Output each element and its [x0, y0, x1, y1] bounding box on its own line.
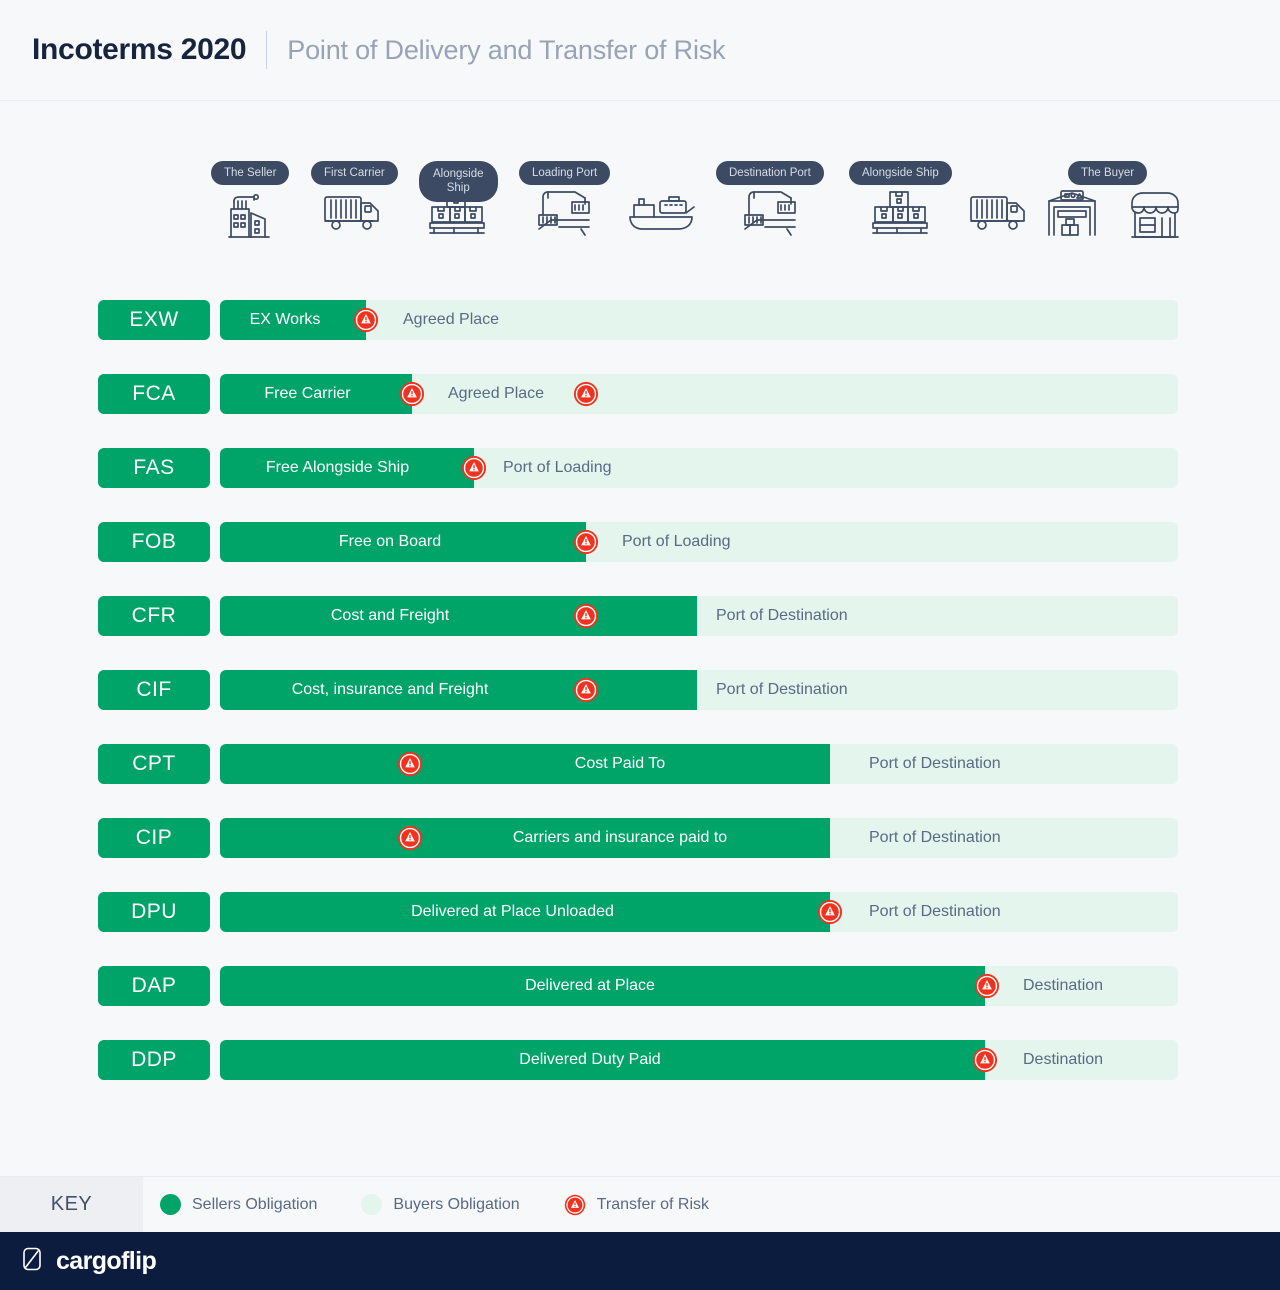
obligation-track: Delivered at PlaceDestination — [220, 966, 1178, 1006]
buyers-obligation-label: Destination — [1023, 966, 1103, 1006]
sellers-obligation-label: Delivered at Place — [220, 966, 960, 1006]
incoterm-row: DAPDelivered at PlaceDestination — [0, 966, 1280, 1040]
legend-label-box: KEY — [0, 1177, 143, 1233]
sellers-obligation-label: Cost, insurance and Freight — [220, 670, 560, 710]
buyers-obligation-label: Port of Loading — [622, 522, 731, 562]
buyers-obligation-label: Port of Destination — [869, 818, 1001, 858]
stage-pill-first-carrier: First Carrier — [311, 161, 398, 185]
incoterm-row: FCAFree CarrierAgreed Place — [0, 374, 1280, 448]
legend-item-label: Transfer of Risk — [597, 1196, 709, 1214]
buyers-obligation-label: Port of Destination — [716, 670, 848, 710]
stage-pill-alongside-ship: Alongside Ship — [849, 161, 952, 185]
incoterm-code-badge[interactable]: DDP — [98, 1040, 210, 1080]
warehouse-icon — [1044, 187, 1100, 239]
incoterm-row: CFRCost and FreightPort of Destination — [0, 596, 1280, 670]
buyers-obligation-label: Port of Destination — [869, 892, 1001, 932]
legend-item-buyers: Buyers Obligation — [361, 1194, 519, 1215]
supply-chain-stages: The SellerFirst CarrierAlongside ShipLoa… — [0, 161, 1280, 301]
sellers-obligation-label: Free Carrier — [220, 374, 395, 414]
legend-item-label: Sellers Obligation — [192, 1196, 317, 1214]
legend-item-label: Buyers Obligation — [393, 1196, 519, 1214]
legend-items: Sellers ObligationBuyers Obligation Tran… — [143, 1194, 753, 1216]
sellers-swatch-icon — [160, 1194, 181, 1215]
obligation-track: Free CarrierAgreed Place — [220, 374, 1178, 414]
incoterm-row: EXWEX WorksAgreed Place — [0, 300, 1280, 374]
stage-pill-loading-port: Loading Port — [519, 161, 610, 185]
buyers-obligation-label: Agreed Place — [448, 374, 544, 414]
sellers-obligation-label: Carriers and insurance paid to — [410, 818, 830, 858]
page-title: Incoterms 2020 — [32, 33, 246, 67]
transfer-of-risk-icon — [353, 307, 379, 333]
truck-icon — [322, 187, 384, 235]
factory-icon — [221, 187, 277, 243]
infographic-page: Incoterms 2020 Point of Delivery and Tra… — [0, 0, 1280, 1290]
obligation-track: Cost and FreightPort of Destination — [220, 596, 1178, 636]
transfer-of-risk-icon — [817, 899, 843, 925]
obligation-track: Free on BoardPort of Loading — [220, 522, 1178, 562]
transfer-of-risk-icon — [397, 751, 423, 777]
port-crane-icon — [741, 187, 799, 239]
legend-item-sellers: Sellers Obligation — [160, 1194, 317, 1215]
obligation-track: Delivered at Place UnloadedPort of Desti… — [220, 892, 1178, 932]
sellers-obligation-label: Free on Board — [220, 522, 560, 562]
buyers-obligation-label: Port of Destination — [716, 596, 848, 636]
sellers-obligation-label: Free Alongside Ship — [220, 448, 455, 488]
legend-item-risk: Transfer of Risk — [564, 1194, 709, 1216]
obligation-track: EX WorksAgreed Place — [220, 300, 1178, 340]
incoterm-row: DPUDelivered at Place UnloadedPort of De… — [0, 892, 1280, 966]
incoterm-code-badge[interactable]: FOB — [98, 522, 210, 562]
transfer-of-risk-icon — [399, 381, 425, 407]
cargo-ship-icon — [626, 187, 698, 235]
stage-pill-destination-port: Destination Port — [716, 161, 824, 185]
transfer-of-risk-icon — [573, 677, 599, 703]
incoterm-code-badge[interactable]: CIF — [98, 670, 210, 710]
incoterm-code-badge[interactable]: FAS — [98, 448, 210, 488]
incoterm-code-badge[interactable]: EXW — [98, 300, 210, 340]
sellers-obligation-label: Cost Paid To — [410, 744, 830, 784]
transfer-of-risk-icon — [573, 603, 599, 629]
storefront-icon — [1126, 187, 1184, 241]
obligation-track: Cost Paid ToPort of Destination — [220, 744, 1178, 784]
buyers-obligation-label: Port of Loading — [503, 448, 612, 488]
stage-icon-4 — [626, 161, 698, 235]
incoterm-code-badge[interactable]: CFR — [98, 596, 210, 636]
page-subtitle: Point of Delivery and Transfer of Risk — [287, 35, 725, 66]
stage-pill-the-seller: The Seller — [211, 161, 289, 185]
incoterm-row: FASFree Alongside ShipPort of Loading — [0, 448, 1280, 522]
cargoflip-logo-icon — [20, 1246, 46, 1277]
sellers-obligation-label: Delivered Duty Paid — [220, 1040, 960, 1080]
transfer-of-risk-icon — [564, 1194, 586, 1216]
incoterm-code-badge[interactable]: FCA — [98, 374, 210, 414]
incoterm-code-badge[interactable]: DPU — [98, 892, 210, 932]
incoterm-row: CIPCarriers and insurance paid toPort of… — [0, 818, 1280, 892]
brand-name: cargoflip — [56, 1247, 156, 1276]
incoterm-row: FOBFree on BoardPort of Loading — [0, 522, 1280, 596]
port-crane-icon — [535, 187, 593, 239]
sellers-obligation-label: Cost and Freight — [220, 596, 560, 636]
buyers-obligation-label: Agreed Place — [403, 300, 499, 340]
buyers-obligation-label: Destination — [1023, 1040, 1103, 1080]
incoterm-row: CPTCost Paid ToPort of Destination — [0, 744, 1280, 818]
sellers-obligation-label: EX Works — [220, 300, 350, 340]
incoterm-code-badge[interactable]: CPT — [98, 744, 210, 784]
buyers-obligation-label: Port of Destination — [869, 744, 1001, 784]
transfer-of-risk-icon — [461, 455, 487, 481]
transfer-of-risk-icon — [974, 973, 1000, 999]
legend-label: KEY — [51, 1193, 93, 1216]
sellers-obligation-label: Delivered at Place Unloaded — [220, 892, 805, 932]
transfer-of-risk-icon — [972, 1047, 998, 1073]
transfer-of-risk-icon — [397, 825, 423, 851]
page-header: Incoterms 2020 Point of Delivery and Tra… — [0, 0, 1280, 101]
stage-pill-alongside-ship: Alongside Ship — [419, 161, 498, 202]
transfer-of-risk-icon — [573, 529, 599, 555]
stage-pill-the-buyer: The Buyer — [1068, 161, 1147, 185]
incoterm-code-badge[interactable]: DAP — [98, 966, 210, 1006]
incoterms-rows: EXWEX WorksAgreed Place FCAFree CarrierA… — [0, 300, 1280, 1114]
obligation-track: Carriers and insurance paid toPort of De… — [220, 818, 1178, 858]
obligation-track: Cost, insurance and FreightPort of Desti… — [220, 670, 1178, 710]
incoterm-row: DDPDelivered Duty PaidDestination — [0, 1040, 1280, 1114]
page-footer: cargoflip — [0, 1232, 1280, 1290]
incoterm-row: CIFCost, insurance and FreightPort of De… — [0, 670, 1280, 744]
obligation-track: Delivered Duty PaidDestination — [220, 1040, 1178, 1080]
legend-bar: KEY Sellers ObligationBuyers Obligation … — [0, 1176, 1280, 1232]
stage-icon-7 — [968, 161, 1030, 235]
header-divider — [266, 31, 267, 69]
buyers-swatch-icon — [361, 1194, 382, 1215]
pallet-boxes-icon — [869, 187, 931, 239]
obligation-track: Free Alongside ShipPort of Loading — [220, 448, 1178, 488]
transfer-of-risk-icon — [573, 381, 599, 407]
truck-icon — [968, 187, 1030, 235]
incoterm-code-badge[interactable]: CIP — [98, 818, 210, 858]
